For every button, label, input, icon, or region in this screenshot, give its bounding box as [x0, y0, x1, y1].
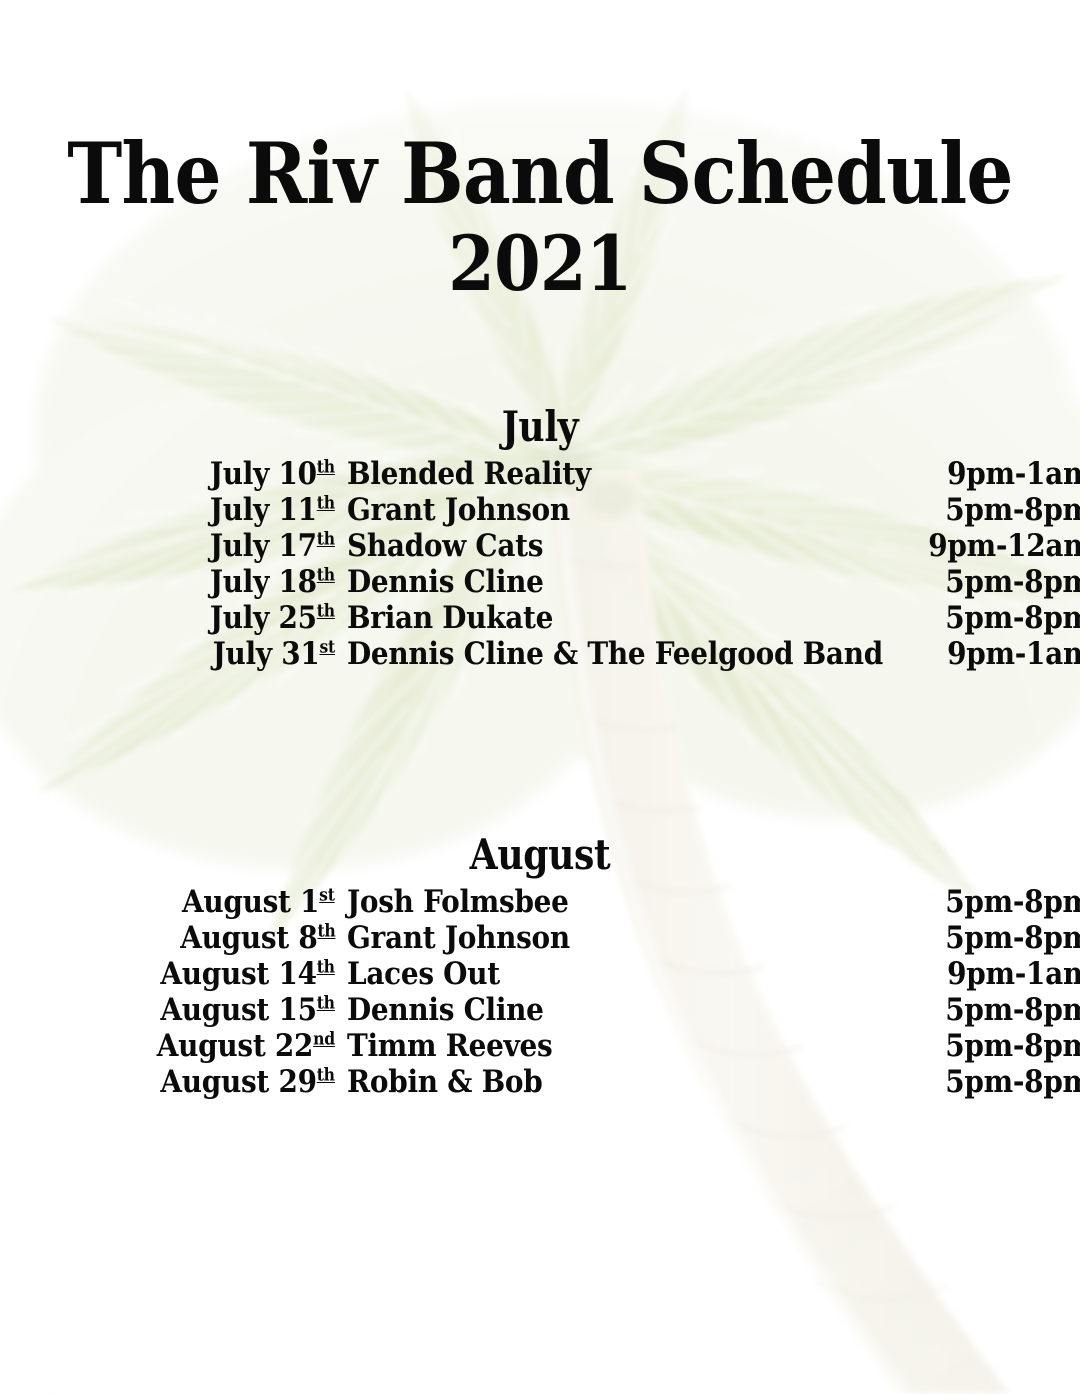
date-text: August 1 [182, 884, 319, 920]
time-text: 5pm-8pm [945, 884, 1080, 920]
band-text: Grant Johnson [347, 492, 570, 528]
month-heading-july: July [76, 404, 1005, 450]
title-line-1: The Riv Band Schedule [65, 126, 1015, 222]
date-text: August 15 [161, 992, 317, 1028]
date-ordinal: th [317, 458, 335, 478]
row-band: Blended Reality [335, 456, 812, 492]
time-text: 9pm-1am [947, 956, 1080, 992]
date-text: August 8 [180, 920, 317, 956]
date-text: July 31 [213, 636, 320, 672]
row-time: 5pm-8pm [812, 920, 1080, 956]
time-text: 9pm-1am [947, 636, 1080, 672]
schedule-table-july: July 10th Blended Reality 9pm-1am July 1… [0, 456, 1080, 672]
row-time: 5pm-8pm [812, 492, 1080, 528]
band-text: Blended Reality [347, 456, 591, 492]
band-text: Brian Dukate [347, 600, 553, 636]
row-time: 9pm-1am [812, 956, 1080, 992]
row-time: 9pm-12am [812, 528, 1080, 564]
row-band: Brian Dukate [335, 600, 812, 636]
band-text: Josh Folmsbee [347, 884, 569, 920]
row-band: Dennis Cline & The Feelgood Band [335, 636, 812, 672]
table-row: July 10th Blended Reality 9pm-1am [0, 456, 1080, 492]
band-schedule-poster: The Riv Band Schedule 2021 July July 10t… [0, 0, 1080, 1394]
row-band: Robin & Bob [335, 1064, 812, 1100]
row-band: Josh Folmsbee [335, 884, 812, 920]
date-ordinal: th [317, 994, 335, 1014]
date-text: July 10 [210, 456, 317, 492]
row-date: July 10th [0, 456, 335, 492]
poster-content: The Riv Band Schedule 2021 July July 10t… [0, 0, 1080, 1394]
time-text: 5pm-8pm [945, 564, 1080, 600]
time-text: 5pm-8pm [945, 492, 1080, 528]
time-text: 5pm-8pm [945, 600, 1080, 636]
band-text: Grant Johnson [347, 920, 570, 956]
time-text: 5pm-8pm [945, 920, 1080, 956]
row-time: 5pm-8pm [812, 564, 1080, 600]
row-date: August 1st [0, 884, 335, 920]
row-date: July 17th [0, 528, 335, 564]
row-date: August 22nd [0, 1028, 335, 1064]
title-line-2: 2021 [65, 222, 1015, 306]
row-band: Dennis Cline [335, 992, 812, 1028]
month-section-july: July July 10th Blended Reality 9pm-1am J… [0, 404, 1080, 672]
time-text: 5pm-8pm [945, 1028, 1080, 1064]
row-time: 5pm-8pm [812, 992, 1080, 1028]
time-text: 5pm-8pm [945, 992, 1080, 1028]
date-text: August 22 [157, 1028, 313, 1064]
row-time: 5pm-8pm [812, 600, 1080, 636]
date-ordinal: th [317, 922, 335, 942]
date-ordinal: th [317, 566, 335, 586]
row-date: July 25th [0, 600, 335, 636]
row-band: Grant Johnson [335, 920, 812, 956]
row-band: Dennis Cline [335, 564, 812, 600]
row-band: Shadow Cats [335, 528, 812, 564]
row-band: Timm Reeves [335, 1028, 812, 1064]
table-row: July 11th Grant Johnson 5pm-8pm [0, 492, 1080, 528]
table-row: August 14th Laces Out 9pm-1am [0, 956, 1080, 992]
band-text: Dennis Cline [347, 564, 544, 600]
poster-title: The Riv Band Schedule 2021 [0, 126, 1080, 306]
row-time: 9pm-1am [812, 456, 1080, 492]
row-date: August 8th [0, 920, 335, 956]
time-text: 5pm-8pm [945, 1064, 1080, 1100]
band-text: Shadow Cats [347, 528, 543, 564]
date-ordinal: th [317, 602, 335, 622]
date-text: July 18 [210, 564, 317, 600]
table-row: July 17th Shadow Cats 9pm-12am [0, 528, 1080, 564]
row-time: 5pm-8pm [812, 1028, 1080, 1064]
row-date: July 31st [0, 636, 335, 672]
row-band: Laces Out [335, 956, 812, 992]
date-ordinal: th [317, 494, 335, 514]
row-band: Grant Johnson [335, 492, 812, 528]
table-row: August 15th Dennis Cline 5pm-8pm [0, 992, 1080, 1028]
table-row: August 22nd Timm Reeves 5pm-8pm [0, 1028, 1080, 1064]
date-ordinal: th [317, 1066, 335, 1086]
date-text: July 25 [210, 600, 317, 636]
table-row: July 31st Dennis Cline & The Feelgood Ba… [0, 636, 1080, 672]
table-row: August 29th Robin & Bob 5pm-8pm [0, 1064, 1080, 1100]
date-ordinal: th [317, 530, 335, 550]
row-time: 5pm-8pm [812, 884, 1080, 920]
table-row: July 18th Dennis Cline 5pm-8pm [0, 564, 1080, 600]
date-ordinal: st [320, 886, 335, 906]
row-date: August 15th [0, 992, 335, 1028]
row-time: 5pm-8pm [812, 1064, 1080, 1100]
month-section-august: August August 1st Josh Folmsbee 5pm-8pm … [0, 832, 1080, 1100]
row-date: August 29th [0, 1064, 335, 1100]
date-text: July 11 [210, 492, 317, 528]
band-text: Dennis Cline & The Feelgood Band [347, 636, 883, 672]
row-date: August 14th [0, 956, 335, 992]
band-text: Timm Reeves [347, 1028, 552, 1064]
date-ordinal: th [317, 958, 335, 978]
band-text: Dennis Cline [347, 992, 544, 1028]
band-text: Laces Out [347, 956, 500, 992]
row-date: July 18th [0, 564, 335, 600]
date-text: August 29 [161, 1064, 317, 1100]
band-text: Robin & Bob [347, 1064, 542, 1100]
date-ordinal: nd [313, 1030, 335, 1050]
date-text: August 14 [161, 956, 317, 992]
date-ordinal: st [320, 638, 335, 658]
table-row: August 8th Grant Johnson 5pm-8pm [0, 920, 1080, 956]
schedule-table-august: August 1st Josh Folmsbee 5pm-8pm August … [0, 884, 1080, 1100]
row-date: July 11th [0, 492, 335, 528]
time-text: 9pm-12am [928, 528, 1080, 564]
time-text: 9pm-1am [947, 456, 1080, 492]
table-row: July 25th Brian Dukate 5pm-8pm [0, 600, 1080, 636]
table-row: August 1st Josh Folmsbee 5pm-8pm [0, 884, 1080, 920]
date-text: July 17 [210, 528, 317, 564]
month-heading-august: August [76, 832, 1005, 878]
